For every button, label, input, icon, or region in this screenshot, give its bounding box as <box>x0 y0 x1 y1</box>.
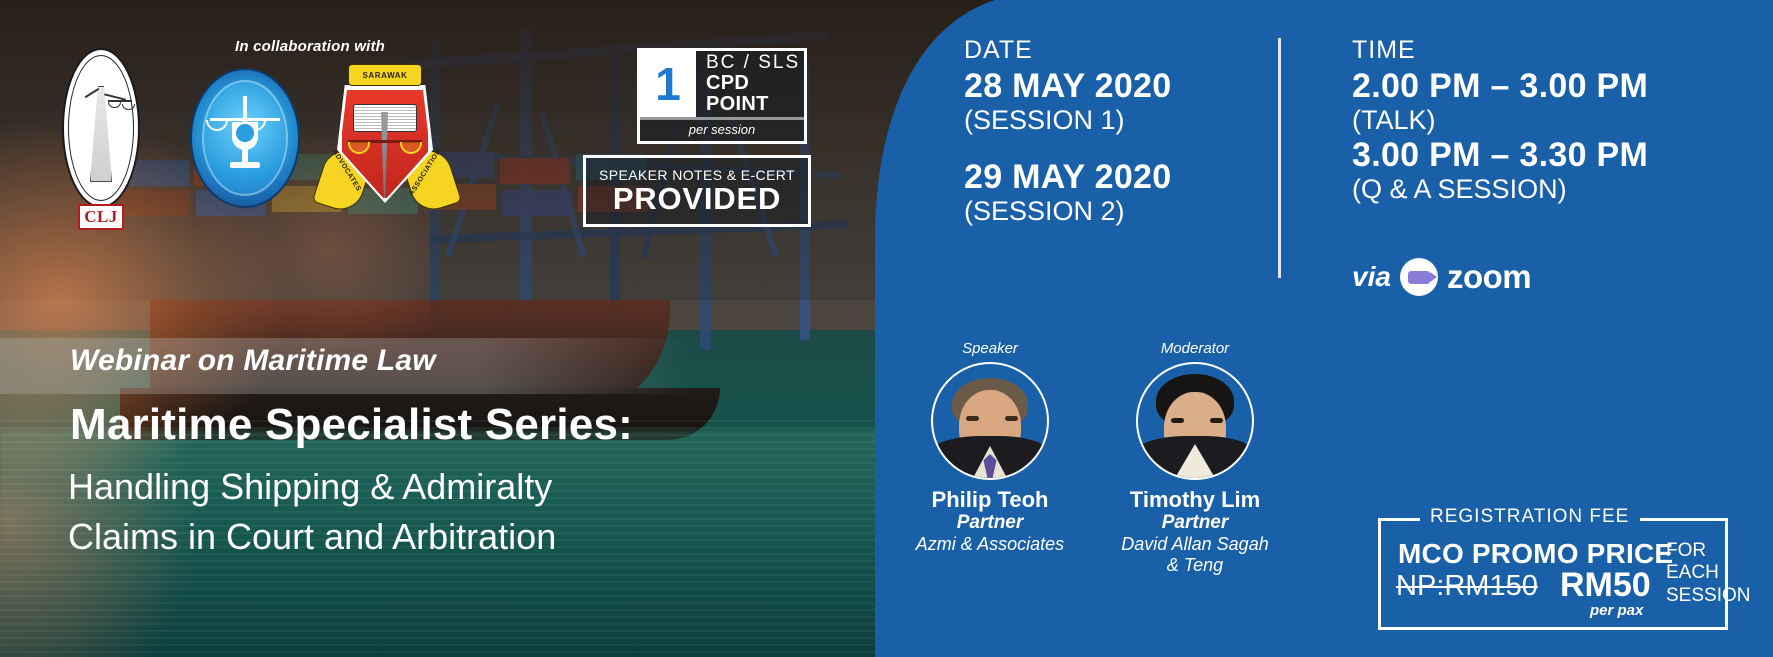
cpd-point-label: CPD POINT <box>706 73 804 115</box>
speaker-name: Philip Teoh <box>880 488 1100 512</box>
moderator-role: Moderator <box>1085 340 1305 357</box>
subtitle-line-1: Handling Shipping & Admiralty <box>68 466 552 508</box>
moderator-firm: David Allan Sagah <box>1085 534 1305 555</box>
time-block: TIME 2.00 PM – 3.00 PM (TALK) 3.00 PM – … <box>1352 36 1732 205</box>
moderator-name: Timothy Lim <box>1085 488 1305 512</box>
moderator-firm-line2: & Teng <box>1085 555 1305 576</box>
speaker-notes-badge: SPEAKER NOTES & E-CERT PROVIDED <box>583 155 811 227</box>
page-title: Maritime Specialist Series: <box>70 400 633 450</box>
speaker-role: Speaker <box>880 340 1100 357</box>
qa-time: 3.00 PM – 3.30 PM <box>1352 136 1732 174</box>
session1-label: (SESSION 1) <box>964 105 1224 136</box>
qa-label: (Q & A SESSION) <box>1352 174 1732 205</box>
per-session-note: FOR EACH SESSION <box>1666 540 1750 607</box>
date-heading: DATE <box>964 36 1224 65</box>
for-label: FOR <box>1666 540 1750 562</box>
speaker-card: Speaker Philip Teoh Partner Azmi & Assoc… <box>880 340 1100 555</box>
clj-wordmark: CLJ <box>78 204 124 230</box>
session-label: SESSION <box>1666 585 1750 607</box>
talk-label: (TALK) <box>1352 105 1732 136</box>
subtitle-line-2: Claims in Court and Arbitration <box>68 516 556 558</box>
eyebrow-text: Webinar on Maritime Law <box>70 344 436 378</box>
speaker-avatar <box>931 362 1049 480</box>
platform-badge: via zoom <box>1352 258 1531 296</box>
talk-time: 2.00 PM – 3.00 PM <box>1352 67 1732 105</box>
column-divider <box>1278 38 1281 278</box>
session2-label: (SESSION 2) <box>964 196 1224 227</box>
via-label: via <box>1352 261 1391 293</box>
cpd-number: 1 <box>640 51 696 117</box>
zoom-wordmark: zoom <box>1447 258 1531 296</box>
speaker-position: Partner <box>880 512 1100 534</box>
time-heading: TIME <box>1352 36 1732 65</box>
normal-price: NP:RM150 <box>1396 570 1538 603</box>
speaker-firm: Azmi & Associates <box>880 534 1100 555</box>
collaboration-label: In collaboration with <box>230 38 390 55</box>
session2-date: 29 MAY 2020 <box>964 158 1224 196</box>
moderator-position: Partner <box>1085 512 1305 534</box>
sarawak-banner-label: SARAWAK <box>348 64 422 86</box>
video-camera-icon <box>1400 258 1438 296</box>
cpd-bodies-label: BC / SLS <box>706 53 804 73</box>
cpd-per-session: per session <box>637 117 807 144</box>
date-block: DATE 28 MAY 2020 (SESSION 1) 29 MAY 2020… <box>964 36 1224 227</box>
cpd-point-badge: 1 BC / SLS CPD POINT <box>637 48 807 120</box>
registration-fee-title: REGISTRATION FEE <box>1430 506 1629 528</box>
per-pax-label: per pax <box>1590 602 1643 619</box>
each-label: EACH <box>1666 562 1750 584</box>
session1-date: 28 MAY 2020 <box>964 67 1224 105</box>
moderator-avatar <box>1136 362 1254 480</box>
webinar-banner: In collaboration with CLJ SARA <box>0 0 1773 657</box>
moderator-card: Moderator Timothy Lim Partner David Alla… <box>1085 340 1305 577</box>
provided-label: PROVIDED <box>613 183 781 216</box>
promo-price: RM50 <box>1560 566 1651 605</box>
